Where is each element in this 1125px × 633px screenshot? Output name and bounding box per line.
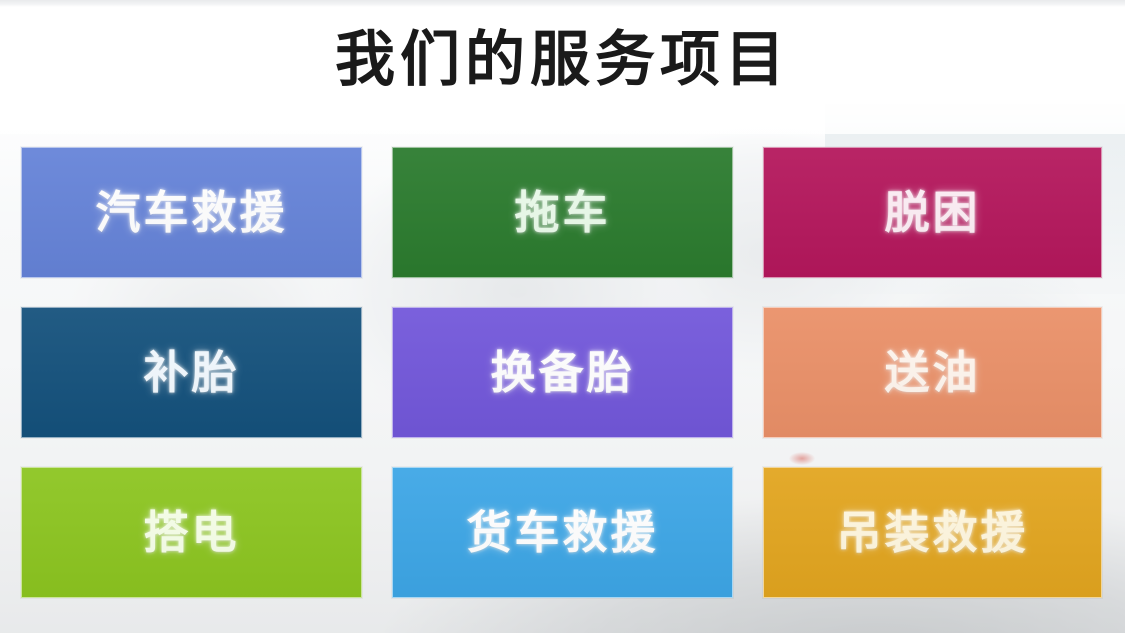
service-tile-label: 脱困	[884, 190, 980, 235]
service-tile-label: 吊装救援	[836, 510, 1028, 555]
page-title: 我们的服务项目	[0, 14, 1125, 106]
service-tile-7[interactable]: 货车救援	[392, 467, 733, 598]
background-top-band	[0, 0, 1125, 7]
service-tile-label: 送油	[884, 350, 980, 395]
service-tile-8[interactable]: 吊装救援	[763, 467, 1102, 598]
service-tile-label: 货车救援	[466, 510, 658, 555]
service-tile-label: 汽车救援	[95, 190, 287, 235]
service-tile-0[interactable]: 汽车救援	[21, 147, 362, 278]
service-tile-label: 换备胎	[490, 350, 634, 395]
service-tile-5[interactable]: 送油	[763, 307, 1102, 438]
service-tile-6[interactable]: 搭电	[21, 467, 362, 598]
service-tile-label: 补胎	[143, 350, 239, 395]
service-tile-2[interactable]: 脱困	[763, 147, 1102, 278]
service-tile-label: 拖车	[514, 190, 610, 235]
service-tile-label: 搭电	[143, 510, 239, 555]
service-grid: 汽车救援 拖车 脱困 补胎 换备胎 送油 搭电 货车救援 吊装救援	[21, 147, 1102, 598]
service-poster: 我们的服务项目 汽车救援 拖车 脱困 补胎 换备胎 送油 搭电 货车救援 吊装救…	[0, 0, 1125, 633]
service-tile-4[interactable]: 换备胎	[392, 307, 733, 438]
service-tile-3[interactable]: 补胎	[21, 307, 362, 438]
service-tile-1[interactable]: 拖车	[392, 147, 733, 278]
